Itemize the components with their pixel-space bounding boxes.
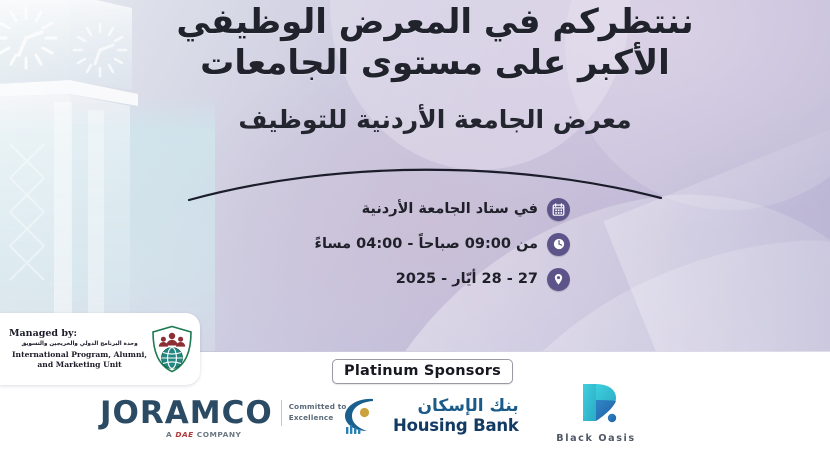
- detail-text-date: 27 - 28 أيّار - 2025: [260, 271, 538, 287]
- housing-bank-arabic: بنك الإسكان: [393, 398, 519, 416]
- black-oasis-mark-icon: [566, 381, 626, 429]
- event-details-list: في ستاد الجامعة الأردنية من 09:00 صباحاً…: [260, 196, 570, 301]
- housing-bank-english: Housing Bank: [393, 417, 519, 434]
- location-pin-icon: [547, 268, 570, 291]
- detail-text-time: من 09:00 صباحاً - 04:00 مساءً: [260, 236, 538, 252]
- sponsor-logo-housing-bank: بنك الإسكان Housing Bank: [340, 395, 519, 437]
- managed-by-panel: Managed by: وحدة البرنامج الدولي والخريج…: [0, 313, 200, 385]
- poster-canvas: ننتظركم في المعرض الوظيفي الأكبر على مست…: [0, 0, 830, 450]
- detail-row-venue: في ستاد الجامعة الأردنية: [260, 196, 570, 222]
- hero-background: ننتظركم في المعرض الوظيفي الأكبر على مست…: [0, 0, 830, 352]
- managed-by-english-line-1: International Program, Alumni,: [9, 350, 150, 360]
- platinum-sponsors-badge: Platinum Sponsors: [332, 359, 513, 384]
- joramco-tagline-line-1: Committed to: [289, 402, 347, 411]
- managed-by-arabic: وحدة البرنامج الدولي والخريجين والتسويق: [9, 341, 150, 348]
- detail-text-venue: في ستاد الجامعة الأردنية: [260, 201, 538, 217]
- poster-headline: ننتظركم في المعرض الوظيفي الأكبر على مست…: [150, 2, 720, 85]
- calendar-icon: [547, 198, 570, 221]
- joramco-company-suffix: COMPANY: [197, 430, 242, 439]
- managed-by-text-block: Managed by: وحدة البرنامج الدولي والخريج…: [9, 328, 150, 370]
- poster-subtitle: معرض الجامعة الأردنية للتوظيف: [150, 104, 720, 135]
- background-wedge-shape: [603, 98, 830, 352]
- clock-icon: [547, 233, 570, 256]
- headline-line-1: ننتظركم في المعرض الوظيفي: [176, 2, 693, 42]
- joramco-wordmark: JORAMCO: [100, 398, 273, 429]
- housing-bank-mark-icon: [340, 395, 388, 437]
- joramco-tagline: Committed to Excellence: [289, 402, 347, 424]
- joramco-company-brand: DAE: [175, 430, 193, 439]
- managed-by-label: Managed by:: [9, 328, 150, 339]
- managed-by-english-line-2: and Marketing Unit: [9, 360, 150, 370]
- joramco-company-prefix: A: [166, 430, 172, 439]
- joramco-tagline-line-2: Excellence: [289, 413, 334, 422]
- sponsor-logo-joramco: JORAMCO Committed to Excellence: [100, 398, 347, 429]
- detail-row-date: 27 - 28 أيّار - 2025: [260, 266, 570, 292]
- university-shield-logo-icon: [150, 325, 194, 373]
- detail-row-time: من 09:00 صباحاً - 04:00 مساءً: [260, 231, 570, 257]
- housing-bank-text-block: بنك الإسكان Housing Bank: [393, 398, 519, 434]
- joramco-company-line: A DAE COMPANY: [166, 430, 241, 439]
- sponsor-logo-black-oasis: Black Oasis: [548, 381, 644, 444]
- joramco-divider: [281, 400, 282, 426]
- headline-line-2: الأكبر على مستوى الجامعات: [150, 43, 720, 84]
- black-oasis-wordmark: Black Oasis: [548, 433, 644, 444]
